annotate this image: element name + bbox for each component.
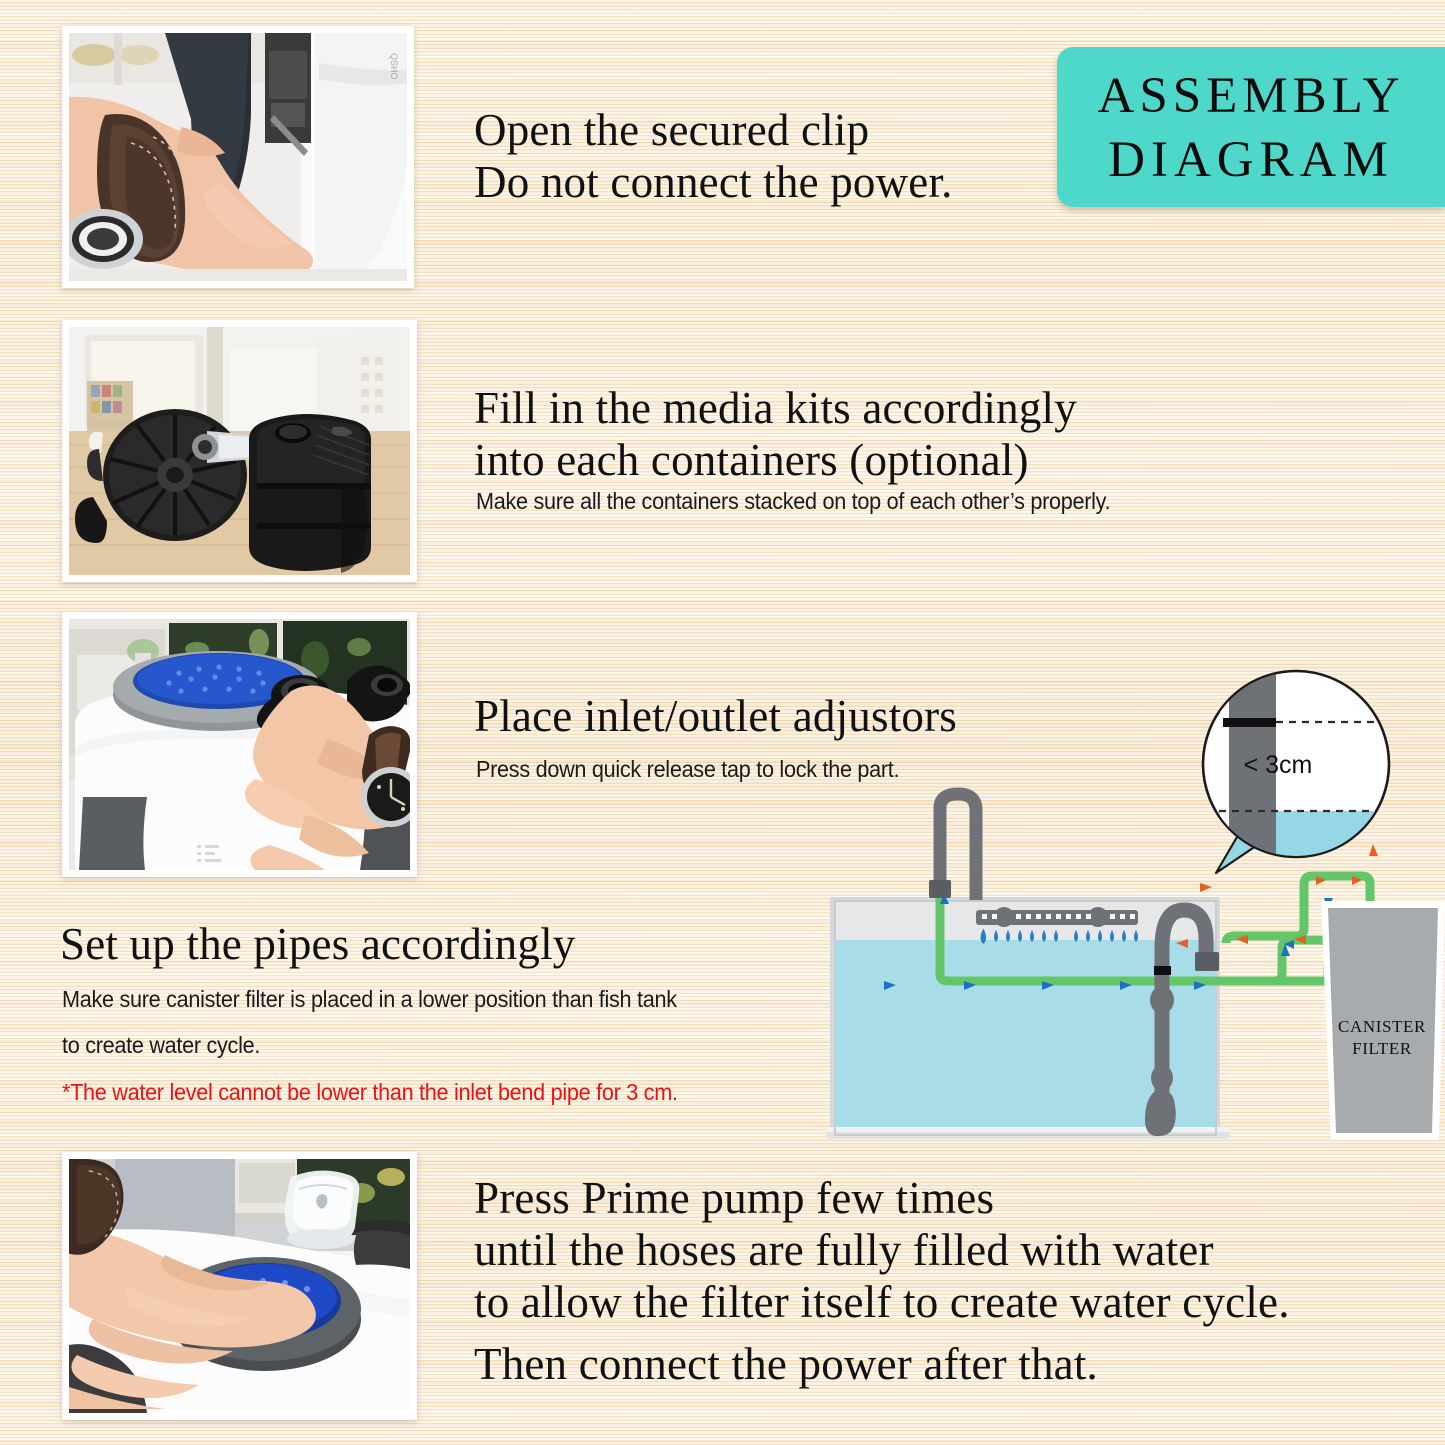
step-4-headline: Set up the pipes accordingly bbox=[60, 918, 575, 970]
step-4-warning: *The water level cannot be lower than th… bbox=[62, 1075, 678, 1110]
step-5-headline-line-3: to allow the filter itself to create wat… bbox=[474, 1276, 1290, 1328]
photo-press-prime-pump bbox=[62, 1152, 417, 1420]
svg-text:QSHO: QSHO bbox=[389, 53, 399, 80]
step-5-headline-line-1: Press Prime pump few times bbox=[474, 1172, 1290, 1224]
step-4-headline-line-1: Set up the pipes accordingly bbox=[60, 918, 575, 970]
canister-filter-label-line-1: CANISTER bbox=[1338, 1017, 1426, 1036]
callout-3cm: < 3cm bbox=[1203, 658, 1389, 878]
photo-open-clip: QSHO bbox=[62, 26, 414, 288]
step-1-headline-line-2: Do not connect the power. bbox=[474, 156, 953, 208]
step-2-headline: Fill in the media kits accordingly into … bbox=[474, 382, 1077, 486]
step-5-headline-line-2: until the hoses are fully filled with wa… bbox=[474, 1224, 1290, 1276]
aquarium-setup-diagram: < 3cm bbox=[826, 648, 1445, 1143]
photo-media-baskets bbox=[62, 320, 417, 582]
step-5-headline-2-line-1: Then connect the power after that. bbox=[474, 1338, 1098, 1390]
step-5-headline: Press Prime pump few times until the hos… bbox=[474, 1172, 1290, 1329]
step-1-headline: Open the secured clip Do not connect the… bbox=[474, 104, 953, 208]
canister-filter-label-line-2: FILTER bbox=[1352, 1039, 1412, 1058]
step-1-headline-line-1: Open the secured clip bbox=[474, 104, 953, 156]
badge-line-1: ASSEMBLY bbox=[1057, 67, 1445, 125]
step-2-subtext: Make sure all the containers stacked on … bbox=[476, 484, 1110, 519]
badge-line-2: DIAGRAM bbox=[1057, 131, 1445, 189]
step-5-headline-2: Then connect the power after that. bbox=[474, 1338, 1098, 1390]
photo-inlet-outlet-adjustors bbox=[62, 612, 417, 877]
step-2-headline-line-1: Fill in the media kits accordingly bbox=[474, 382, 1077, 434]
step-2-headline-line-2: into each containers (optional) bbox=[474, 434, 1077, 486]
assembly-diagram-badge: ASSEMBLY DIAGRAM bbox=[1057, 47, 1445, 207]
canister-filter: CANISTER FILTER bbox=[1321, 901, 1445, 1140]
callout-label: < 3cm bbox=[1244, 751, 1313, 779]
step-4-subtext-line-2: to create water cycle. bbox=[62, 1028, 260, 1063]
step-4-subtext-line-1: Make sure canister filter is placed in a… bbox=[62, 982, 677, 1017]
